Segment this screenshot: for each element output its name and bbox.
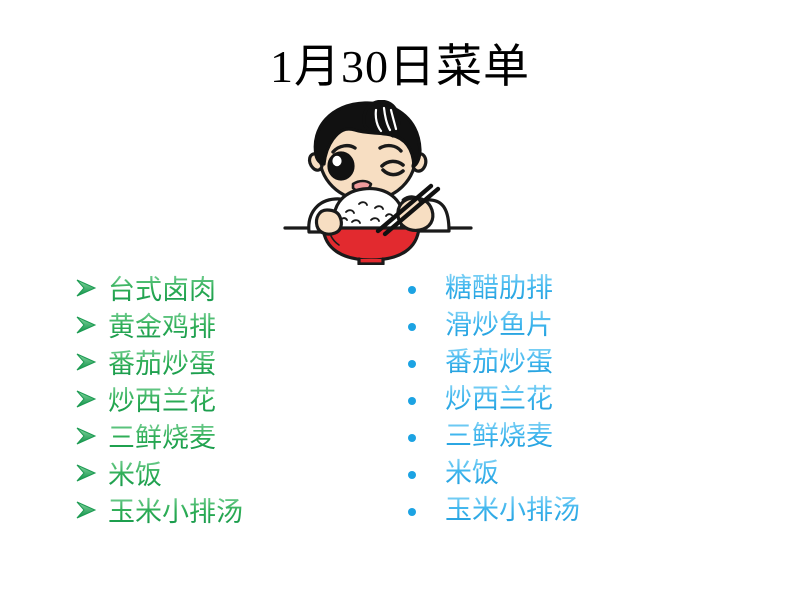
menu-item-label: 黄金鸡排 <box>108 309 216 346</box>
arrow-bullet-icon <box>76 305 108 334</box>
menu-item-label: 滑炒鱼片 <box>445 307 553 344</box>
menu-item-label: 米饭 <box>108 457 162 494</box>
menu-item[interactable]: 炒西兰花 <box>76 381 376 418</box>
menu-item-label: 番茄炒蛋 <box>108 346 216 383</box>
menu-item-label: 玉米小排汤 <box>108 494 243 531</box>
menu-item[interactable]: 米饭 <box>76 455 376 492</box>
menu-item[interactable]: 滑炒鱼片 <box>408 307 728 344</box>
menu-item-label: 台式卤肉 <box>108 272 216 309</box>
dot-bullet-icon <box>408 271 445 294</box>
menu-item-label: 米饭 <box>445 455 499 492</box>
menu-item-label: 炒西兰花 <box>108 383 216 420</box>
arrow-bullet-icon <box>76 379 108 408</box>
arrow-bullet-icon <box>76 342 108 371</box>
dot-bullet-icon <box>408 308 445 331</box>
menu-item[interactable]: 番茄炒蛋 <box>76 344 376 381</box>
menu-item-label: 糖醋肋排 <box>445 270 553 307</box>
dot-bullet-icon <box>408 345 445 368</box>
menu-column-left: 台式卤肉 黄金鸡排 <box>76 270 376 529</box>
arrow-bullet-icon <box>76 453 108 482</box>
menu-slide: 1月30日菜单 <box>0 0 800 600</box>
menu-item-label: 玉米小排汤 <box>445 492 580 529</box>
menu-item-label: 炒西兰花 <box>445 381 553 418</box>
boy-eating-rice-icon <box>283 100 473 265</box>
arrow-bullet-icon <box>76 416 108 445</box>
menu-item-label: 三鲜烧麦 <box>445 418 553 455</box>
boy-eating-rice-illustration <box>283 100 473 265</box>
dot-bullet-icon <box>408 419 445 442</box>
page-title: 1月30日菜单 <box>0 38 800 96</box>
dot-bullet-icon <box>408 382 445 405</box>
menu-item[interactable]: 三鲜烧麦 <box>408 418 728 455</box>
arrow-bullet-icon <box>76 490 108 519</box>
arrow-bullet-icon <box>76 268 108 297</box>
menu-item[interactable]: 番茄炒蛋 <box>408 344 728 381</box>
menu-item-label: 三鲜烧麦 <box>108 420 216 457</box>
menu-item[interactable]: 玉米小排汤 <box>76 492 376 529</box>
menu-item[interactable]: 炒西兰花 <box>408 381 728 418</box>
menu-column-right: 糖醋肋排 滑炒鱼片 番茄炒蛋 炒西兰花 三鲜烧麦 米饭 玉米小排汤 <box>408 270 728 529</box>
dot-bullet-icon <box>408 493 445 516</box>
menu-item[interactable]: 玉米小排汤 <box>408 492 728 529</box>
menu-item[interactable]: 三鲜烧麦 <box>76 418 376 455</box>
menu-item[interactable]: 米饭 <box>408 455 728 492</box>
menu-item[interactable]: 糖醋肋排 <box>408 270 728 307</box>
menu-item-label: 番茄炒蛋 <box>445 344 553 381</box>
menu-item[interactable]: 黄金鸡排 <box>76 307 376 344</box>
dot-bullet-icon <box>408 456 445 479</box>
menu-item[interactable]: 台式卤肉 <box>76 270 376 307</box>
